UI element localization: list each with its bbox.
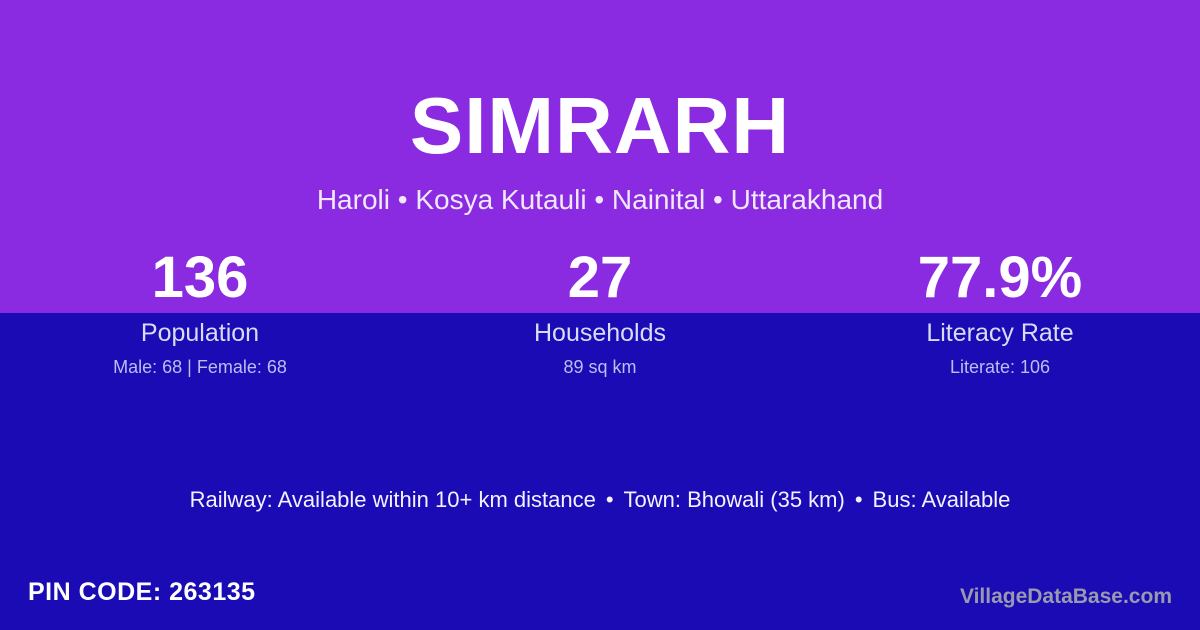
stat-literacy-value: 77.9% (800, 246, 1200, 310)
infra-town: Town: Bhowali (35 km) (624, 487, 845, 512)
stat-population-detail: Male: 68 | Female: 68 (0, 356, 400, 378)
pin-code: PIN CODE: 263135 (28, 576, 256, 608)
village-info-card: SIMRARH Haroli • Kosya Kutauli • Nainita… (0, 0, 1200, 630)
location-breadcrumb: Haroli • Kosya Kutauli • Nainital • Utta… (0, 182, 1200, 218)
stat-literacy-detail: Literate: 106 (800, 356, 1200, 378)
stat-households: 27 Households 89 sq km (400, 246, 800, 378)
stat-households-value: 27 (400, 246, 800, 310)
stats-row: 136 Population Male: 68 | Female: 68 27 … (0, 246, 1200, 378)
stat-households-label: Households (400, 318, 800, 348)
site-branding: VillageDataBase.com (960, 583, 1172, 611)
infrastructure-line: Railway: Available within 10+ km distanc… (0, 485, 1200, 515)
stat-literacy-label: Literacy Rate (800, 318, 1200, 348)
stat-population-value: 136 (0, 246, 400, 310)
infra-railway: Railway: Available within 10+ km distanc… (190, 487, 596, 512)
stat-population-label: Population (0, 318, 400, 348)
infra-separator-1: • (596, 485, 624, 515)
infra-separator-2: • (845, 485, 873, 515)
infra-bus: Bus: Available (873, 487, 1011, 512)
village-title: SIMRARH (0, 78, 1200, 174)
stat-households-detail: 89 sq km (400, 356, 800, 378)
stat-literacy: 77.9% Literacy Rate Literate: 106 (800, 246, 1200, 378)
stat-population: 136 Population Male: 68 | Female: 68 (0, 246, 400, 378)
